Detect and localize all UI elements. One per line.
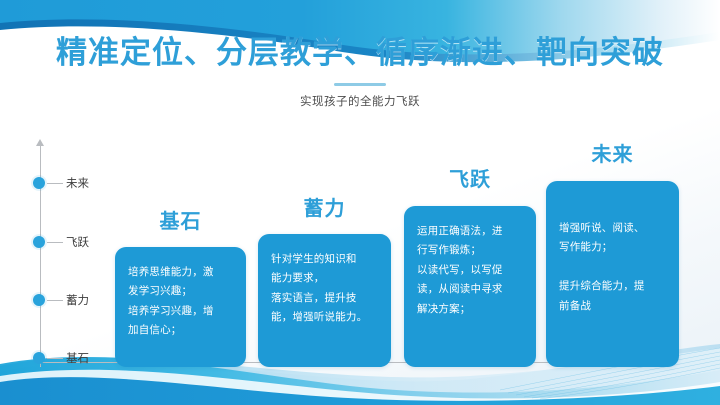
axis-label: 蓄力 [66,292,89,308]
axis-dot-icon [33,177,45,189]
column-future: 未来 增强听说、阅读、 写作能力； 提升综合能力，提 前备战 [546,138,679,363]
title-block: 精准定位、分层教学、循序渐进、靶向突破 实现孩子的全能力飞跃 [0,36,720,109]
column-card-text: 运用正确语法，进 行写作锻炼； 以读代写，以写促 读，从阅读中寻求 解决方案； [417,222,523,319]
column-card[interactable]: 培养思维能力，激 发学习兴趣； 培养学习兴趣，增 加自信心； [115,247,246,367]
axis-label: 基石 [66,350,89,366]
axis-dot-icon [33,236,45,248]
column-card-text: 针对学生的知识和 能力要求， 落实语言，提升技 能，增强听说能力。 [271,250,378,328]
column-heading: 未来 [546,138,679,167]
axis-dot-icon [33,352,45,364]
axis-tick-line [47,300,63,301]
column-card[interactable]: 针对学生的知识和 能力要求， 落实语言，提升技 能，增强听说能力。 [258,234,391,367]
axis-tick-line [47,183,63,184]
title-divider [334,83,386,86]
column-heading: 飞跃 [404,163,536,192]
axis-label: 未来 [66,175,89,191]
page-title: 精准定位、分层教学、循序渐进、靶向突破 [0,36,720,72]
axis-tick-line [47,358,63,359]
slide-canvas: 精准定位、分层教学、循序渐进、靶向突破 实现孩子的全能力飞跃 未来 飞跃 蓄力 … [0,0,720,405]
axis-tick-line [47,242,63,243]
column-card-text: 增强听说、阅读、 写作能力； 提升综合能力，提 前备战 [559,219,666,316]
axis-label: 飞跃 [66,234,89,250]
column-card-text: 培养思维能力，激 发学习兴趣； 培养学习兴趣，增 加自信心； [128,263,233,341]
column-heading: 基石 [115,205,246,234]
column-leap: 飞跃 运用正确语法，进 行写作锻炼； 以读代写，以写促 读，从阅读中寻求 解决方… [404,163,536,363]
column-heading: 蓄力 [258,192,391,221]
column-card[interactable]: 运用正确语法，进 行写作锻炼； 以读代写，以写促 读，从阅读中寻求 解决方案； [404,206,536,367]
column-foundation: 基石 培养思维能力，激 发学习兴趣； 培养学习兴趣，增 加自信心； [115,205,246,363]
page-subtitle: 实现孩子的全能力飞跃 [0,93,720,109]
axis-dot-icon [33,294,45,306]
column-accumulate: 蓄力 针对学生的知识和 能力要求， 落实语言，提升技 能，增强听说能力。 [258,192,391,363]
column-card[interactable]: 增强听说、阅读、 写作能力； 提升综合能力，提 前备战 [546,181,679,367]
